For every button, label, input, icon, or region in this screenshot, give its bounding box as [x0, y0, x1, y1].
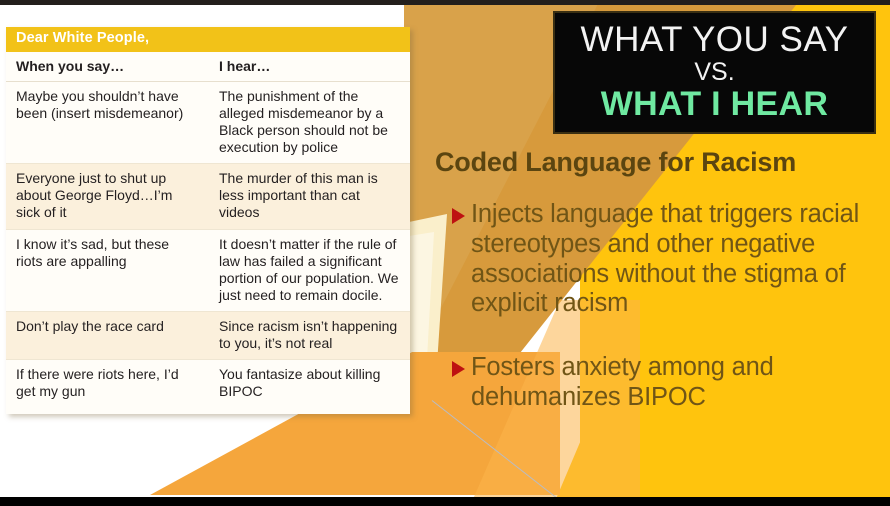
cell-say: Don’t play the race card	[6, 311, 209, 359]
slide-top-border	[0, 0, 890, 5]
bullet-list: Injects language that triggers racial st…	[452, 200, 890, 447]
table-row: I know it’s sad, but these riots are app…	[6, 229, 410, 311]
cell-hear: Since racism isn’t happening to you, it’…	[209, 311, 410, 359]
list-item: Fosters anxiety among and dehumanizes BI…	[452, 353, 890, 413]
say-hear-table: When you say… I hear… Maybe you shouldn’…	[6, 52, 410, 407]
table-card-title: Dear White People,	[6, 27, 410, 52]
triangle-bullet-icon	[452, 361, 465, 377]
banner-line-what-you-say: WHAT YOU SAY	[581, 22, 849, 58]
triangle-bullet-icon	[452, 208, 465, 224]
column-header-i-hear: I hear…	[209, 52, 410, 82]
cell-say: I know it’s sad, but these riots are app…	[6, 229, 209, 311]
dear-white-people-table-card: Dear White People, When you say… I hear……	[6, 27, 410, 414]
column-header-when-you-say: When you say…	[6, 52, 209, 82]
table-card-footer-padding	[6, 407, 410, 414]
bullet-text: Injects language that triggers racial st…	[471, 200, 890, 319]
banner-line-what-i-hear: WHAT I HEAR	[601, 87, 828, 123]
page-title: Coded Language for Racism	[435, 147, 890, 178]
slide-canvas: Dear White People, When you say… I hear……	[0, 0, 890, 506]
cell-say: If there were riots here, I’d get my gun	[6, 360, 209, 408]
table-row: If there were riots here, I’d get my gun…	[6, 360, 410, 408]
cell-say: Maybe you shouldn’t have been (insert mi…	[6, 82, 209, 164]
cell-hear: You fantasize about killing BIPOC	[209, 360, 410, 408]
what-you-say-vs-what-i-hear-banner: WHAT YOU SAY VS. WHAT I HEAR	[553, 11, 876, 134]
cell-hear: It doesn’t matter if the rule of law has…	[209, 229, 410, 311]
table-row: Everyone just to shut up about George Fl…	[6, 164, 410, 229]
cell-hear: The murder of this man is less important…	[209, 164, 410, 229]
bullet-text: Fosters anxiety among and dehumanizes BI…	[471, 353, 890, 413]
table-header-row: When you say… I hear…	[6, 52, 410, 82]
cell-hear: The punishment of the alleged misdemeano…	[209, 82, 410, 164]
banner-line-vs: VS.	[694, 58, 734, 87]
cell-say: Everyone just to shut up about George Fl…	[6, 164, 209, 229]
slide-bottom-border	[0, 497, 890, 506]
table-row: Don’t play the race card Since racism is…	[6, 311, 410, 359]
list-item: Injects language that triggers racial st…	[452, 200, 890, 319]
table-row: Maybe you shouldn’t have been (insert mi…	[6, 82, 410, 164]
